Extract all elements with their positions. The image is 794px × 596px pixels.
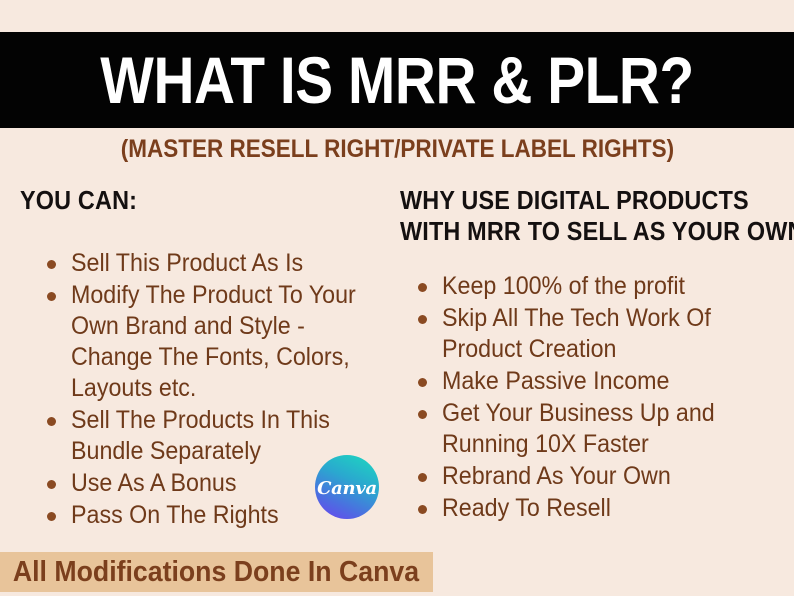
left-column-heading: YOU CAN: bbox=[0, 185, 392, 216]
bullet-dot-icon bbox=[47, 512, 56, 521]
right-column-heading-line2: WITH MRR TO SELL AS YOUR OWN: bbox=[400, 216, 755, 247]
list-item: Get Your Business Up and Running 10X Fas… bbox=[414, 398, 744, 460]
list-item-label: Modify The Product To Your Own Brand and… bbox=[71, 280, 361, 404]
list-item: Sell This Product As Is bbox=[43, 248, 383, 279]
bullet-dot-icon bbox=[418, 283, 427, 292]
title-band: WHAT IS MRR & PLR? bbox=[0, 32, 794, 128]
list-item: Modify The Product To Your Own Brand and… bbox=[43, 280, 383, 404]
list-item-label: Sell This Product As Is bbox=[71, 248, 361, 279]
list-item-label: Skip All The Tech Work Of Product Creati… bbox=[442, 303, 723, 365]
page-subtitle-text: (MASTER RESELL RIGHT/PRIVATE LABEL RIGHT… bbox=[120, 136, 673, 164]
list-item: Make Passive Income bbox=[414, 366, 744, 397]
bullet-dot-icon bbox=[47, 417, 56, 426]
list-item-label: Pass On The Rights bbox=[71, 500, 361, 531]
bottom-banner: All Modifications Done In Canva bbox=[0, 552, 433, 592]
right-column: WHY USE DIGITAL PRODUCTS WITH MRR TO SEL… bbox=[392, 185, 794, 525]
bullet-dot-icon bbox=[418, 315, 427, 324]
poster-canvas: WHAT IS MRR & PLR? (MASTER RESELL RIGHT/… bbox=[0, 0, 794, 596]
list-item-label: Ready To Resell bbox=[442, 493, 723, 524]
bullet-dot-icon bbox=[47, 480, 56, 489]
right-column-list: Keep 100% of the profit Skip All The Tec… bbox=[392, 271, 744, 524]
list-item-label: Sell The Products In This Bundle Separat… bbox=[71, 405, 361, 467]
bullet-dot-icon bbox=[418, 473, 427, 482]
list-item: Rebrand As Your Own bbox=[414, 461, 744, 492]
right-column-heading-line1: WHY USE DIGITAL PRODUCTS bbox=[400, 185, 755, 216]
bullet-dot-icon bbox=[47, 260, 56, 269]
left-column-heading-line1: YOU CAN: bbox=[20, 185, 355, 216]
bullet-dot-icon bbox=[418, 378, 427, 387]
list-item-label: Rebrand As Your Own bbox=[442, 461, 723, 492]
list-item: Ready To Resell bbox=[414, 493, 744, 524]
list-item-label: Keep 100% of the profit bbox=[442, 271, 723, 302]
bullet-dot-icon bbox=[418, 505, 427, 514]
list-item: Keep 100% of the profit bbox=[414, 271, 744, 302]
bullet-dot-icon bbox=[418, 410, 427, 419]
page-subtitle: (MASTER RESELL RIGHT/PRIVATE LABEL RIGHT… bbox=[0, 136, 794, 164]
right-column-heading: WHY USE DIGITAL PRODUCTS WITH MRR TO SEL… bbox=[392, 185, 794, 246]
canva-logo-label: Canva bbox=[317, 478, 377, 499]
list-item-label: Get Your Business Up and Running 10X Fas… bbox=[442, 398, 723, 460]
list-item: Skip All The Tech Work Of Product Creati… bbox=[414, 303, 744, 365]
list-item-label: Make Passive Income bbox=[442, 366, 723, 397]
bottom-banner-label: All Modifications Done In Canva bbox=[0, 558, 419, 587]
canva-logo-icon: Canva bbox=[315, 455, 379, 519]
page-title: WHAT IS MRR & PLR? bbox=[100, 47, 693, 113]
bullet-dot-icon bbox=[47, 292, 56, 301]
